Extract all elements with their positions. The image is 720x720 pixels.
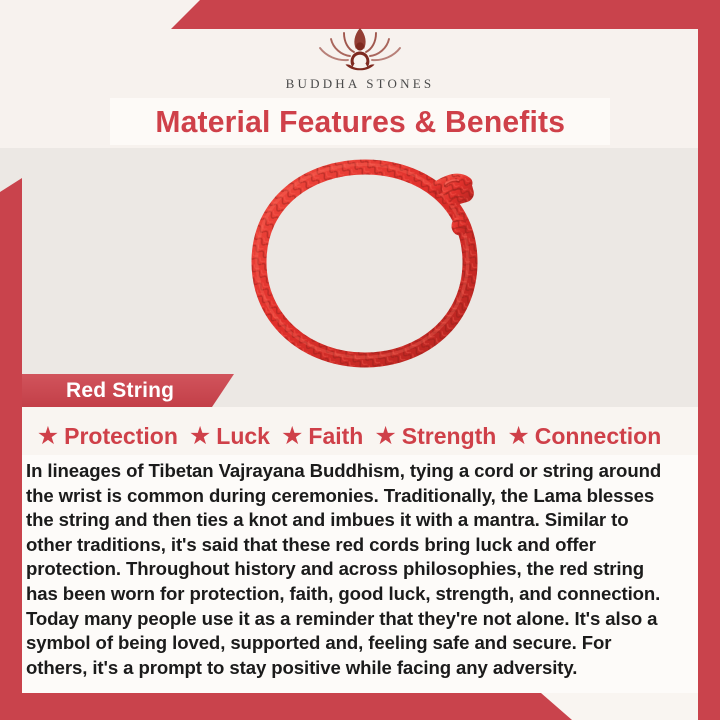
description-text: In lineages of Tibetan Vajrayana Buddhis… [26, 459, 672, 680]
infographic-page: BUDDHA STONES Material Features & Benefi… [0, 0, 720, 720]
description-panel: In lineages of Tibetan Vajrayana Buddhis… [22, 455, 698, 693]
star-icon: ★ [281, 424, 303, 449]
benefit-label: Connection [535, 423, 662, 450]
benefit-item-strength: ★ Strength [365, 423, 496, 450]
star-icon: ★ [374, 424, 396, 449]
brand-logo: BUDDHA STONES [0, 24, 720, 98]
title-banner: Material Features & Benefits [110, 98, 610, 145]
benefit-item-luck: ★ Luck [180, 423, 270, 450]
red-string-ribbon: Red String [22, 374, 234, 407]
benefit-label: Strength [402, 423, 497, 450]
red-string-bracelet-illustration [225, 150, 505, 375]
benefits-row: ★ Protection ★ Luck ★ Faith ★ Strength ★… [22, 418, 698, 454]
star-icon: ★ [507, 424, 529, 449]
benefit-item-protection: ★ Protection [37, 423, 178, 450]
star-icon: ★ [189, 424, 211, 449]
brand-name: BUDDHA STONES [286, 76, 435, 92]
benefit-label: Protection [64, 423, 178, 450]
benefit-label: Luck [216, 423, 270, 450]
star-icon: ★ [37, 424, 59, 449]
benefit-label: Faith [308, 423, 363, 450]
ribbon-label: Red String [66, 379, 174, 403]
lotus-meditating-figure-icon [300, 24, 420, 74]
decorative-band-right [698, 0, 720, 720]
product-image [225, 150, 505, 375]
benefit-item-faith: ★ Faith [272, 423, 363, 450]
page-title: Material Features & Benefits [155, 104, 565, 140]
decorative-band-left [0, 178, 22, 720]
benefit-item-connection: ★ Connection [498, 423, 661, 450]
